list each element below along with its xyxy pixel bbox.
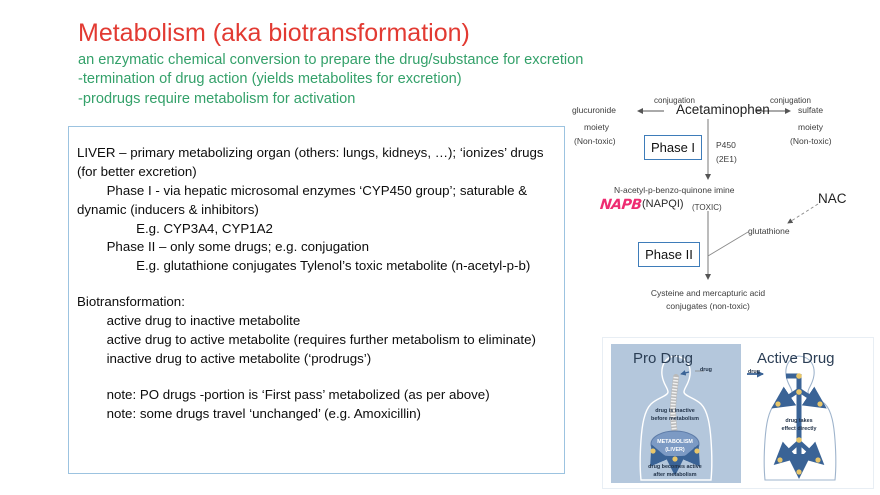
napqi-abbrev-label: (NAPQI) [642, 198, 684, 210]
sulfate-toxicity-label: (Non-toxic) [790, 136, 832, 146]
glucuronide-toxicity-label: (Non-toxic) [574, 136, 616, 146]
body-line: note: some drugs travel ‘unchanged’ (e.g… [77, 405, 555, 424]
right-conjugation-label: conjugation [770, 96, 811, 105]
p450-enzyme-label: P450 [716, 140, 736, 150]
body-line: E.g. CYP3A4, CYP1A2 [77, 220, 555, 239]
glucuronide-moiety-label: moiety [584, 122, 609, 132]
prodrug-caption-inactive-2: before metabolism [625, 415, 725, 423]
body-line: Phase II – only some drugs; e.g. conjuga… [77, 238, 555, 257]
body-line: LIVER – primary metabolizing organ (othe… [77, 144, 555, 182]
liver-organ-label-1: METABOLISM [645, 438, 705, 446]
prodrug-figure-inner: Pro Drug Active Drug drug is inactive be… [611, 344, 866, 483]
active-drug-caption-1: drug takes [763, 417, 835, 425]
prodrug-caption-active-1: drug becomes active [625, 463, 725, 471]
phase-2-box[interactable]: Phase II [638, 242, 700, 267]
active-drug-arrow-label: drug [743, 368, 765, 376]
p450-isoform-label: (2E1) [716, 154, 737, 164]
prodrug-caption-inactive-1: drug is inactive [625, 407, 725, 415]
glucuronide-label: glucuronide [572, 105, 616, 115]
page-title: Metabolism (aka biotransformation) [78, 20, 678, 48]
content-textbox: LIVER – primary metabolizing organ (othe… [68, 126, 565, 474]
napqi-full-name-label: N-acetyl-p-benzo-quinone imine [614, 185, 734, 195]
prodrug-panel-title: Pro Drug [633, 350, 693, 367]
slide-canvas: Metabolism (aka biotransformation) an en… [0, 0, 880, 495]
napqi-toxicity-label: (TOXIC) [692, 203, 722, 212]
body-line: Biotransformation: [77, 293, 555, 312]
nac-antidote-label: NAC [818, 191, 847, 206]
content-textbox-body: LIVER – primary metabolizing organ (othe… [69, 127, 564, 431]
body-line: inactive drug to active metabolite (‘pro… [77, 350, 555, 369]
body-spacer [77, 369, 555, 386]
body-line: Phase I - via hepatic microsomal enzymes… [77, 182, 555, 220]
phase-1-box[interactable]: Phase I [644, 135, 702, 160]
body-spacer [77, 276, 555, 293]
prodrug-vs-active-drug-figure: Pro Drug Active Drug drug is inactive be… [602, 337, 874, 489]
acetaminophen-pathway-diagram: conjugation conjugation glucuronide moie… [566, 86, 880, 322]
napb-handwritten-annotation: NAPB [599, 197, 642, 213]
glutathione-label: glutathione [748, 226, 790, 236]
sulfate-moiety-label: moiety [798, 122, 823, 132]
body-line: note: PO drugs -portion is ‘First pass’ … [77, 386, 555, 405]
prodrug-arrow-label: drug [693, 366, 719, 374]
final-conjugate-line-2: conjugates (non-toxic) [608, 301, 808, 311]
active-drug-panel-title: Active Drug [757, 350, 835, 367]
parent-drug-label: Acetaminophen [676, 102, 770, 117]
subtitle-line-1: an enzymatic chemical conversion to prep… [78, 51, 678, 71]
body-line: active drug to inactive metabolite [77, 312, 555, 331]
liver-organ-label-2: (LIVER) [645, 446, 705, 454]
active-drug-caption-2: effect directly [763, 425, 835, 433]
prodrug-caption-active-2: after metabolism [625, 471, 725, 479]
sulfate-label: sulfate [798, 105, 823, 115]
final-conjugate-line-1: Cysteine and mercapturic acid [608, 288, 808, 298]
body-line: active drug to active metabolite (requir… [77, 331, 555, 350]
body-line: E.g. glutathione conjugates Tylenol’s to… [77, 257, 555, 276]
